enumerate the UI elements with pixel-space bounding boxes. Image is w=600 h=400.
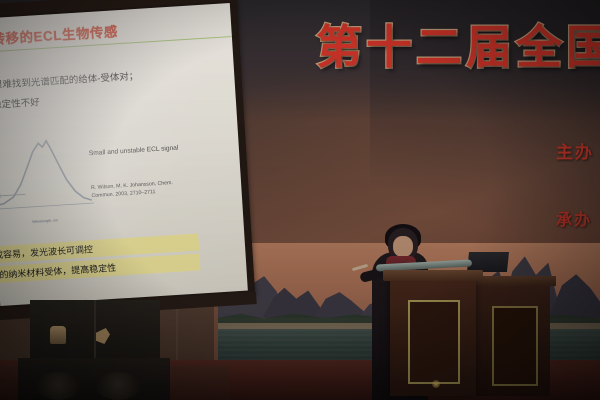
conference-photo: 第十二届全国 主办 承办 能量转移的ECL生物传感 -RET: 有限，很难找到光… (0, 0, 600, 400)
secondary-podium-panel (492, 306, 538, 386)
lectern-front-panel (408, 300, 460, 384)
pa-horn-driver (50, 326, 66, 344)
secondary-podium (476, 284, 550, 396)
slide-citation: R. Wilson, M. K. Johansson, Chem. Commun… (91, 180, 174, 200)
banner-co-organizer-label: 承办 (556, 206, 592, 230)
woofer-cone (96, 372, 140, 400)
spectrum-annotation: Small and unstable ECL signal (89, 145, 179, 158)
screen-surface: 能量转移的ECL生物传感 -RET: 有限，很难找到光谱匹配的给体-受体对； 场… (0, 3, 248, 306)
banner-main-title: 第十二届全国 (316, 24, 600, 70)
pa-cabinet-seam (94, 300, 96, 362)
presenter-face (393, 236, 413, 257)
screen-frame: 能量转移的ECL生物传感 -RET: 有限，很难找到光谱匹配的给体-受体对； 场… (0, 0, 255, 313)
projection-screen: 能量转移的ECL生物传感 -RET: 有限，很难找到光谱匹配的给体-受体对； 场… (0, 0, 241, 311)
spectrum-svg (0, 130, 99, 223)
laptop (467, 252, 509, 272)
lectern (390, 278, 476, 396)
woofer-cone (36, 372, 80, 400)
ecl-spectrum-plot: Wavelength, nm (0, 130, 99, 223)
lectern-light-reflection (432, 380, 440, 388)
presentation-slide: 能量转移的ECL生物传感 -RET: 有限，很难找到光谱匹配的给体-受体对； 场… (0, 3, 248, 306)
lectern-top-surface (383, 270, 483, 281)
banner-organizer-label: 主办 (556, 138, 594, 163)
